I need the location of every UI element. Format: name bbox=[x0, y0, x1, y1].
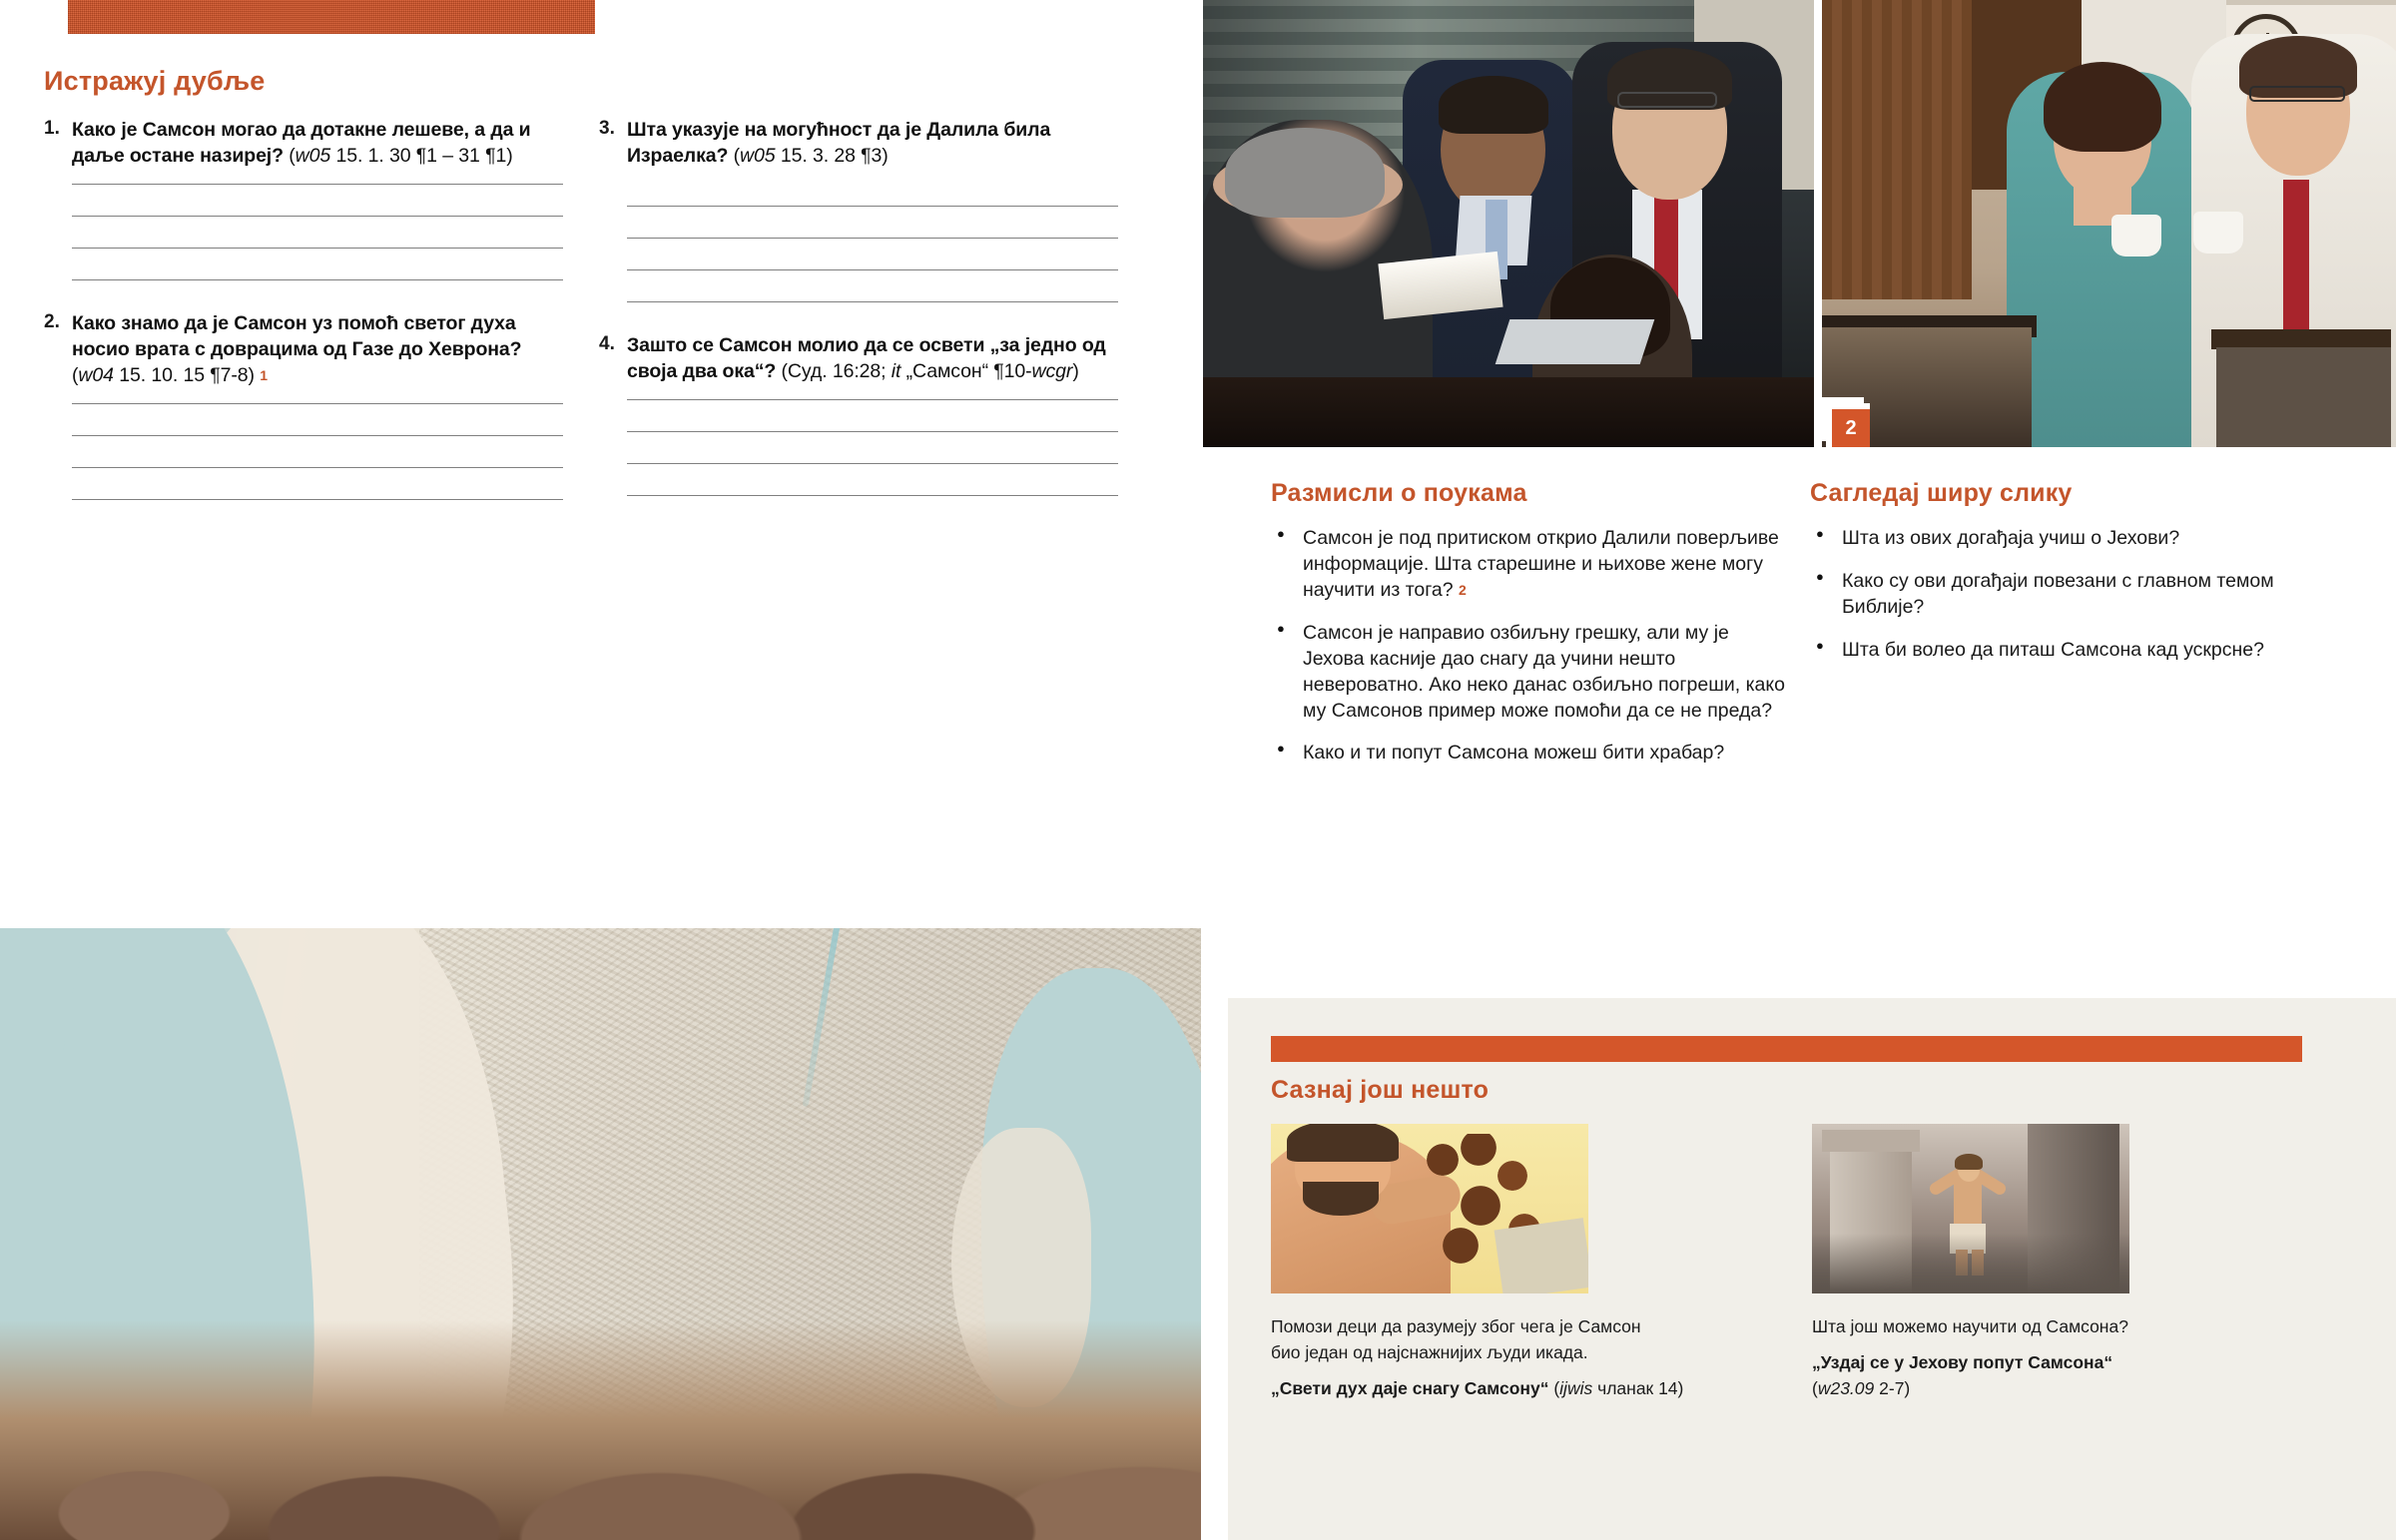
lessons-section: Размисли о поукама Самсон је под притиск… bbox=[1271, 479, 1790, 783]
publication-title: „Уздај се у Јехову попут Самсона“ bbox=[1812, 1351, 2281, 1375]
figure-badge-2: 2 bbox=[1826, 403, 1870, 447]
answer-line[interactable] bbox=[627, 463, 1118, 464]
answer-line[interactable] bbox=[627, 301, 1118, 302]
question-text: Како знамо да је Самсон уз помоћ светог … bbox=[72, 311, 563, 389]
question-ref-italic: it bbox=[892, 360, 901, 382]
bigpicture-section-title: Сагледај ширу слику bbox=[1810, 479, 2329, 508]
lesson-text: Самсон је под притиском открио Далили по… bbox=[1303, 527, 1779, 601]
list-item: Како су ови догађаји повезани с главном … bbox=[1810, 569, 2329, 621]
man-trousers bbox=[2216, 347, 2391, 447]
coffee-cup bbox=[2111, 215, 2161, 257]
footnote-marker[interactable]: 1 bbox=[260, 367, 268, 383]
question-ref-open: (Суд. 16:28; bbox=[776, 360, 892, 382]
photo-strip bbox=[1203, 0, 2396, 447]
learn-more-caption: Шта још можемо научити од Самсона? „Узда… bbox=[1812, 1315, 2281, 1400]
learn-more-section: Сазнај још нешто Помози деци да разумеју… bbox=[1228, 998, 2396, 1540]
list-item: Шта би волео да питаш Самсона кад ускрсн… bbox=[1810, 638, 2329, 664]
question-ref-rest: 15. 3. 28 ¶3) bbox=[776, 145, 889, 167]
question-item-4: 4. Зашто се Самсон молио да се освети „з… bbox=[599, 333, 1118, 496]
table-surface bbox=[1203, 377, 1814, 447]
question-number: 1. bbox=[44, 118, 70, 140]
comic-beard bbox=[1303, 1182, 1379, 1216]
questions-column-left: 1. Како је Самсон могао да дотакне лешев… bbox=[44, 118, 563, 531]
eyeglasses-icon bbox=[2249, 86, 2345, 102]
comic-scroll bbox=[1495, 1218, 1588, 1293]
question-item-3: 3. Шта указује на могућност да је Далила… bbox=[599, 118, 1118, 302]
woman-hair bbox=[2044, 62, 2161, 152]
dust-cloud bbox=[1812, 1234, 2129, 1293]
question-ref-italic: w05 bbox=[740, 145, 775, 167]
caption-line-1: Помози деци да разумеју због чега је Сам… bbox=[1271, 1315, 1740, 1339]
question-item-2: 2. Како знамо да је Самсон уз помоћ свет… bbox=[44, 311, 563, 500]
list-item: Самсон је под притиском открио Далили по… bbox=[1271, 526, 1790, 604]
answer-line[interactable] bbox=[627, 206, 1118, 207]
publication-ref-italic: w23.09 bbox=[1818, 1378, 1874, 1398]
gaza-hebron-map: 1 Велико море Слано море УДАЉЕНОСТ 60km … bbox=[0, 928, 1201, 1540]
answer-line[interactable] bbox=[72, 499, 563, 500]
question-ref-italic: w05 bbox=[296, 145, 330, 167]
eyeglasses-icon bbox=[1617, 92, 1717, 108]
elders-discussion-photo bbox=[1203, 0, 1814, 447]
bigpicture-text: Како су ови догађаји повезани с главном … bbox=[1842, 570, 2274, 618]
samson-pillars-thumbnail[interactable] bbox=[1812, 1124, 2129, 1293]
caption-ref-line: (w23.09 2-7) bbox=[1812, 1377, 2281, 1401]
question-item-1: 1. Како је Самсон могао да дотакне лешев… bbox=[44, 118, 563, 280]
comic-hair bbox=[1287, 1124, 1399, 1162]
man-belt bbox=[2211, 329, 2391, 349]
answer-line[interactable] bbox=[627, 238, 1118, 239]
top-orange-banner bbox=[68, 0, 595, 34]
lesson-text: Самсон је направио озбиљну грешку, али м… bbox=[1303, 622, 1785, 722]
answer-line[interactable] bbox=[72, 184, 563, 185]
samson-lion-comic-thumbnail[interactable] bbox=[1271, 1124, 1588, 1293]
answer-line[interactable] bbox=[627, 399, 1118, 400]
publication-ref-rest: чланак 14) bbox=[1592, 1378, 1683, 1398]
question-ref-close: ) bbox=[1072, 360, 1078, 382]
answer-line[interactable] bbox=[72, 248, 563, 249]
question-ref-open: ( bbox=[728, 145, 740, 167]
publication-title: „Свети дух даје снагу Самсону“ bbox=[1271, 1378, 1548, 1398]
answer-lines[interactable] bbox=[72, 403, 563, 500]
question-ref-italic: w04 bbox=[78, 364, 113, 386]
man-red-tie bbox=[2283, 180, 2309, 329]
coffee-cup bbox=[2193, 212, 2243, 254]
question-number: 3. bbox=[599, 118, 625, 140]
bigpicture-list: Шта из ових догађаја учиш о Јехови? Како… bbox=[1810, 526, 2329, 664]
list-item: Самсон је направио озбиљну грешку, али м… bbox=[1271, 621, 1790, 725]
page-root: Истражуј дубље 1. Како је Самсон могао д… bbox=[0, 0, 2396, 1540]
caption-line-2: био један од најснажнијих људи икада. bbox=[1271, 1341, 1740, 1365]
map-rocky-foreground bbox=[0, 1320, 1201, 1540]
question-text: Шта указује на могућност да је Далила би… bbox=[627, 118, 1118, 170]
question-ref-rest: 15. 10. 15 ¶7-8) bbox=[114, 364, 255, 386]
answer-lines[interactable] bbox=[627, 399, 1118, 496]
answer-line[interactable] bbox=[72, 279, 563, 280]
publication-ref-open: ( bbox=[1548, 1378, 1559, 1398]
bigpicture-text: Шта би волео да питаш Самсона кад ускрсн… bbox=[1842, 639, 2264, 661]
elder-hair bbox=[1225, 128, 1385, 218]
lesson-text: Како и ти попут Самсона можеш бити храба… bbox=[1303, 742, 1724, 764]
caption-line-1: Шта још можемо научити од Самсона? bbox=[1812, 1315, 2281, 1339]
samson-hair bbox=[1955, 1154, 1983, 1170]
answer-line[interactable] bbox=[72, 216, 563, 217]
question-ref-rest: 15. 1. 30 ¶1 – 31 ¶1) bbox=[330, 145, 512, 167]
publication-ref-rest: 2-7) bbox=[1874, 1378, 1910, 1398]
learn-more-orange-bar bbox=[1271, 1036, 2302, 1062]
footnote-marker[interactable]: 2 bbox=[1459, 582, 1467, 598]
answer-line[interactable] bbox=[72, 467, 563, 468]
learn-more-card[interactable]: Помози деци да разумеју због чега је Сам… bbox=[1271, 1124, 1740, 1402]
questions-column-right: 3. Шта указује на могућност да је Далила… bbox=[599, 118, 1118, 527]
deeper-section-title: Истражуј дубље bbox=[44, 66, 265, 97]
couple-in-kitchen-photo bbox=[1822, 0, 2396, 447]
question-ref-italic-2: wcgr bbox=[1032, 360, 1073, 382]
bigpicture-section: Сагледај ширу слику Шта из ових догађаја… bbox=[1810, 479, 2329, 681]
lessons-list: Самсон је под притиском открио Далили по… bbox=[1271, 526, 1790, 767]
list-item: Како и ти попут Самсона можеш бити храба… bbox=[1271, 741, 1790, 767]
question-number: 2. bbox=[44, 311, 70, 333]
question-bold-text: Како знамо да је Самсон уз помоћ светог … bbox=[72, 312, 522, 360]
question-ref-rest: „Самсон“ ¶10- bbox=[900, 360, 1031, 382]
person-hair bbox=[1439, 76, 1548, 134]
answer-line[interactable] bbox=[72, 435, 563, 436]
question-text: Како је Самсон могао да дотакне лешеве, … bbox=[72, 118, 563, 170]
question-ref-open: ( bbox=[284, 145, 296, 167]
bigpicture-text: Шта из ових догађаја учиш о Јехови? bbox=[1842, 527, 2179, 549]
answer-line[interactable] bbox=[627, 495, 1118, 496]
lessons-section-title: Размисли о поукама bbox=[1271, 479, 1790, 508]
publication-ref-italic: ijwis bbox=[1559, 1378, 1592, 1398]
answer-line[interactable] bbox=[72, 403, 563, 404]
answer-lines[interactable] bbox=[72, 184, 563, 280]
learn-more-title: Сазнај још нешто bbox=[1271, 1076, 1489, 1105]
caption-title-line: „Свети дух даје снагу Самсону“ (ijwis чл… bbox=[1271, 1377, 1740, 1401]
laptop-on-table bbox=[1496, 319, 1655, 364]
question-number: 4. bbox=[599, 333, 625, 355]
learn-more-caption: Помози деци да разумеју због чега је Сам… bbox=[1271, 1315, 1740, 1400]
pillar-capital bbox=[1822, 1130, 1920, 1152]
wood-cabinet bbox=[1822, 0, 1972, 299]
answer-lines[interactable] bbox=[627, 206, 1118, 302]
question-text: Зашто се Самсон молио да се освети „за ј… bbox=[627, 333, 1118, 385]
list-item: Шта из ових догађаја учиш о Јехови? bbox=[1810, 526, 2329, 552]
answer-line[interactable] bbox=[627, 431, 1118, 432]
answer-line[interactable] bbox=[627, 269, 1118, 270]
learn-more-card[interactable]: Шта још можемо научити од Самсона? „Узда… bbox=[1812, 1124, 2281, 1402]
